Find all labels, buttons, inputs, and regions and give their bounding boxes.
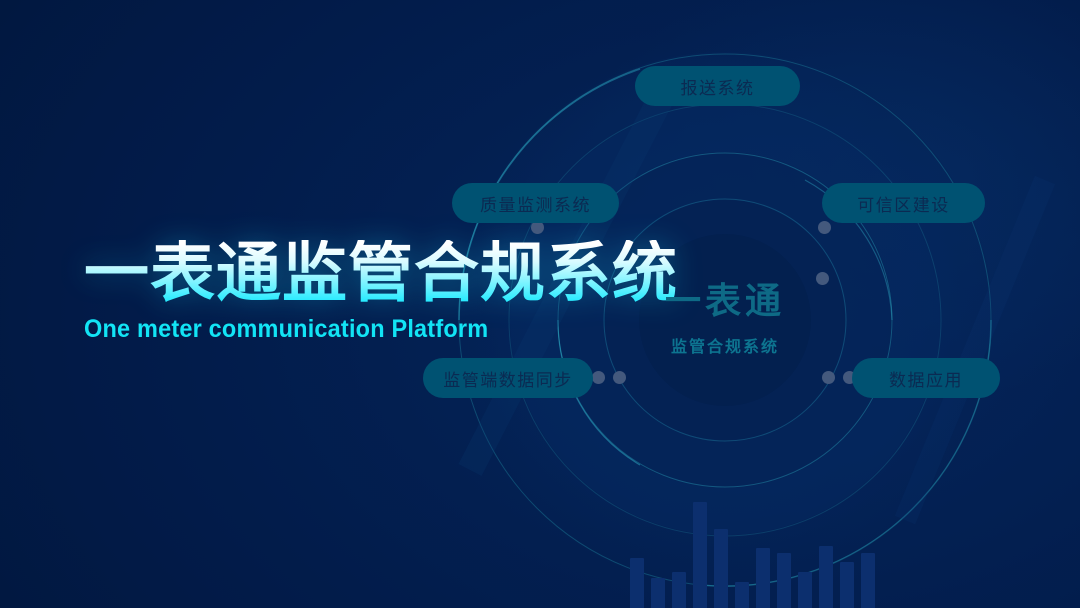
node-label: 数据应用 xyxy=(889,366,963,391)
node-label: 监管端数据同步 xyxy=(443,366,573,391)
decorative-bar-chart xyxy=(630,488,900,608)
chart-bar xyxy=(777,553,791,608)
connector-dot-shujuyingyong-inner xyxy=(822,371,835,384)
connector-dot-jianguanduan-inner xyxy=(613,371,626,384)
chart-bar xyxy=(630,558,644,608)
node-pill-jianguanduan[interactable]: 监管端数据同步 xyxy=(423,358,593,398)
chart-bar xyxy=(693,502,707,608)
connector-dot-kexinqu xyxy=(818,221,831,234)
chart-bar xyxy=(672,572,686,608)
chart-bar xyxy=(840,562,854,608)
node-label: 可信区建设 xyxy=(857,191,950,216)
title-block: 一表通监管合规系统 One meter communication Platfo… xyxy=(84,240,704,344)
hub-subtitle: 监管合规系统 xyxy=(615,333,835,357)
node-pill-shujuyingyong[interactable]: 数据应用 xyxy=(852,358,1000,398)
connector-dot-jianguanduan-outer xyxy=(592,371,605,384)
node-pill-kexinqu[interactable]: 可信区建设 xyxy=(822,183,985,223)
chart-bar xyxy=(756,548,770,608)
page-subtitle: One meter communication Platform xyxy=(84,315,667,344)
chart-bar xyxy=(714,529,728,608)
chart-bar xyxy=(651,578,665,608)
chart-bar xyxy=(735,582,749,608)
node-label: 质量监测系统 xyxy=(480,191,591,216)
slide-canvas: 一表通监管合规系统 One meter communication Platfo… xyxy=(0,0,1080,608)
chart-bar xyxy=(861,553,875,608)
center-hub: 一表通 监管合规系统 xyxy=(615,283,835,357)
chart-bar xyxy=(798,572,812,608)
hub-title: 一表通 xyxy=(615,283,835,319)
connector-dot-inner-right xyxy=(816,272,829,285)
page-title: 一表通监管合规系统 xyxy=(84,240,704,305)
chart-bar xyxy=(819,546,833,608)
node-pill-zhiliang[interactable]: 质量监测系统 xyxy=(452,183,619,223)
node-pill-baosong[interactable]: 报送系统 xyxy=(635,66,800,106)
node-label: 报送系统 xyxy=(681,74,755,99)
